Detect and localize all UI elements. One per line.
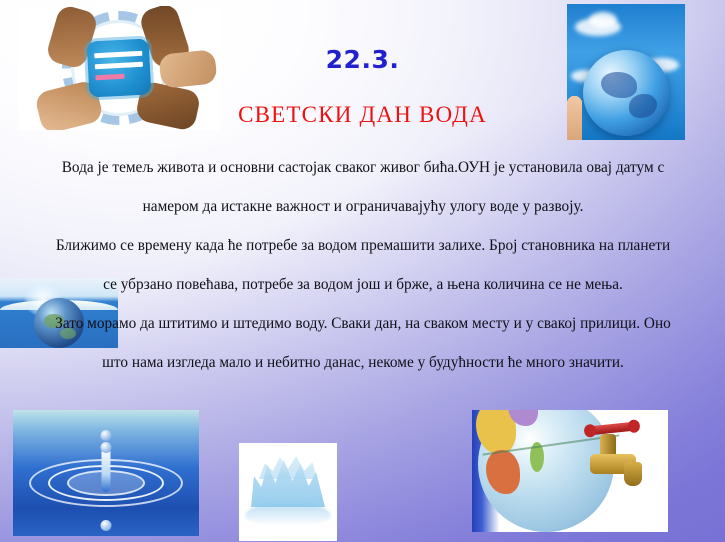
splash-crown-shape [251,457,325,507]
water-column-shape [102,448,111,492]
slide-title: СВЕТСКИ ДАН ВОДА [0,102,725,128]
landmass-shape-2 [486,450,520,494]
slide-date-heading: 22.3. [0,45,725,74]
water-droplet-top [101,430,112,441]
splash-crown-highlight [259,451,317,479]
paragraph-2: Ближимо се времену када ће потребе за во… [52,226,674,304]
faucet-spout-shape [624,462,642,486]
water-droplet-middle [101,442,112,453]
paragraph-3: Зато морамо да штитимо и штедимо воду. С… [52,304,674,382]
slide-body-text: Вода је темељ живота и основни састојак … [52,148,674,382]
water-droplet-bottom [101,520,112,531]
water-splash-crown-image [239,443,337,541]
paragraph-1: Вода је темељ живота и основни састојак … [52,148,674,226]
presentation-slide: 22.3. СВЕТСКИ ДАН ВОДА Вода је темељ жив… [0,0,725,542]
badge-line-3 [95,74,124,81]
globe-with-faucet-image [472,410,668,532]
water-drop-ripple-image [13,410,199,536]
cloud-shape-2 [589,12,617,28]
